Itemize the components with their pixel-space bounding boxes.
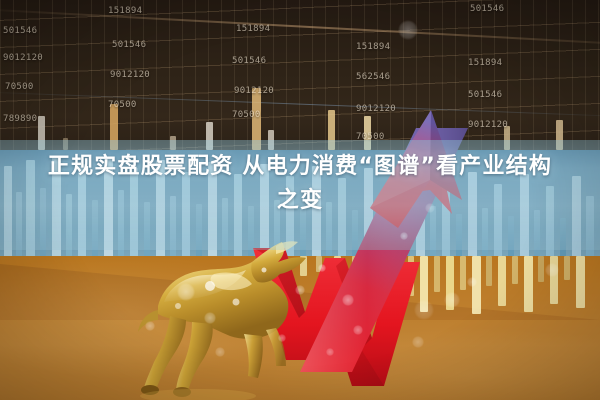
bokeh-dot (353, 325, 363, 335)
banner-image: 1518945015465015461518949012120901212050… (0, 0, 600, 400)
bokeh-dot (204, 312, 216, 324)
headline-line-1: 正规实盘股票配资 从电力消费“图谱”看产业结构 (0, 150, 600, 184)
bokeh-dot (398, 20, 418, 40)
bokeh-dot (467, 277, 477, 287)
headline-line-2: 之变 (0, 184, 600, 218)
bokeh-dot (414, 300, 434, 320)
bokeh-dot (177, 283, 195, 301)
bokeh-dot (215, 347, 225, 357)
bokeh-dot (444, 292, 460, 308)
bokeh-dot (326, 348, 334, 356)
bokeh-dot (278, 334, 286, 342)
headline-block: 正规实盘股票配资 从电力消费“图谱”看产业结构 之变 (0, 150, 600, 218)
bokeh-dot (318, 264, 326, 272)
bokeh-dot (412, 336, 424, 348)
bokeh-dot (342, 294, 354, 306)
bokeh-dot (545, 263, 559, 277)
bokeh-dot (145, 321, 155, 331)
bokeh-dot (295, 285, 305, 295)
